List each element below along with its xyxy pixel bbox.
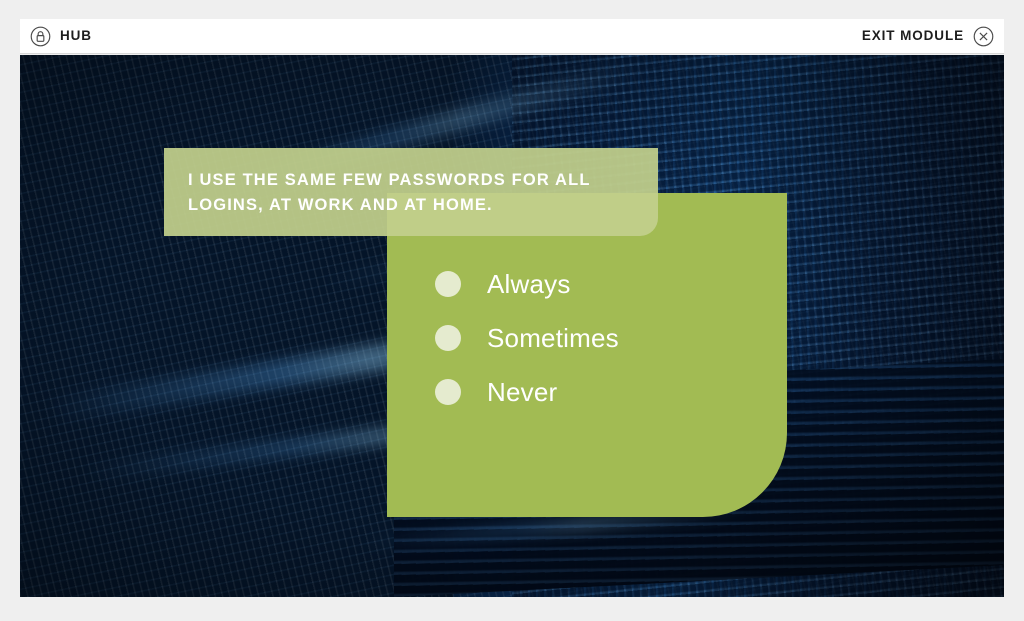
answer-options-panel: Always Sometimes Never xyxy=(387,193,787,517)
close-circle-icon[interactable] xyxy=(973,26,994,47)
module-player: HUB EXIT MODULE xyxy=(0,0,1024,621)
module-top-bar: HUB EXIT MODULE xyxy=(20,19,1004,54)
exit-module-label: EXIT MODULE xyxy=(862,29,964,43)
hub-label: HUB xyxy=(60,29,92,43)
answer-option-always[interactable]: Always xyxy=(435,257,787,311)
radio-button-icon[interactable] xyxy=(435,325,461,351)
lock-circle-icon xyxy=(30,26,51,47)
exit-module-button[interactable]: EXIT MODULE xyxy=(862,26,994,47)
question-banner: I use the same few passwords for all log… xyxy=(164,148,658,236)
answer-option-label: Never xyxy=(487,379,557,405)
answer-option-label: Sometimes xyxy=(487,325,619,351)
radio-button-icon[interactable] xyxy=(435,379,461,405)
answer-option-never[interactable]: Never xyxy=(435,365,787,419)
hub-button[interactable]: HUB xyxy=(30,26,92,47)
radio-button-icon[interactable] xyxy=(435,271,461,297)
slide-stage: Always Sometimes Never I use the same fe… xyxy=(20,55,1004,597)
answer-option-label: Always xyxy=(487,271,571,297)
answer-option-sometimes[interactable]: Sometimes xyxy=(435,311,787,365)
question-text: I use the same few passwords for all log… xyxy=(188,168,632,218)
